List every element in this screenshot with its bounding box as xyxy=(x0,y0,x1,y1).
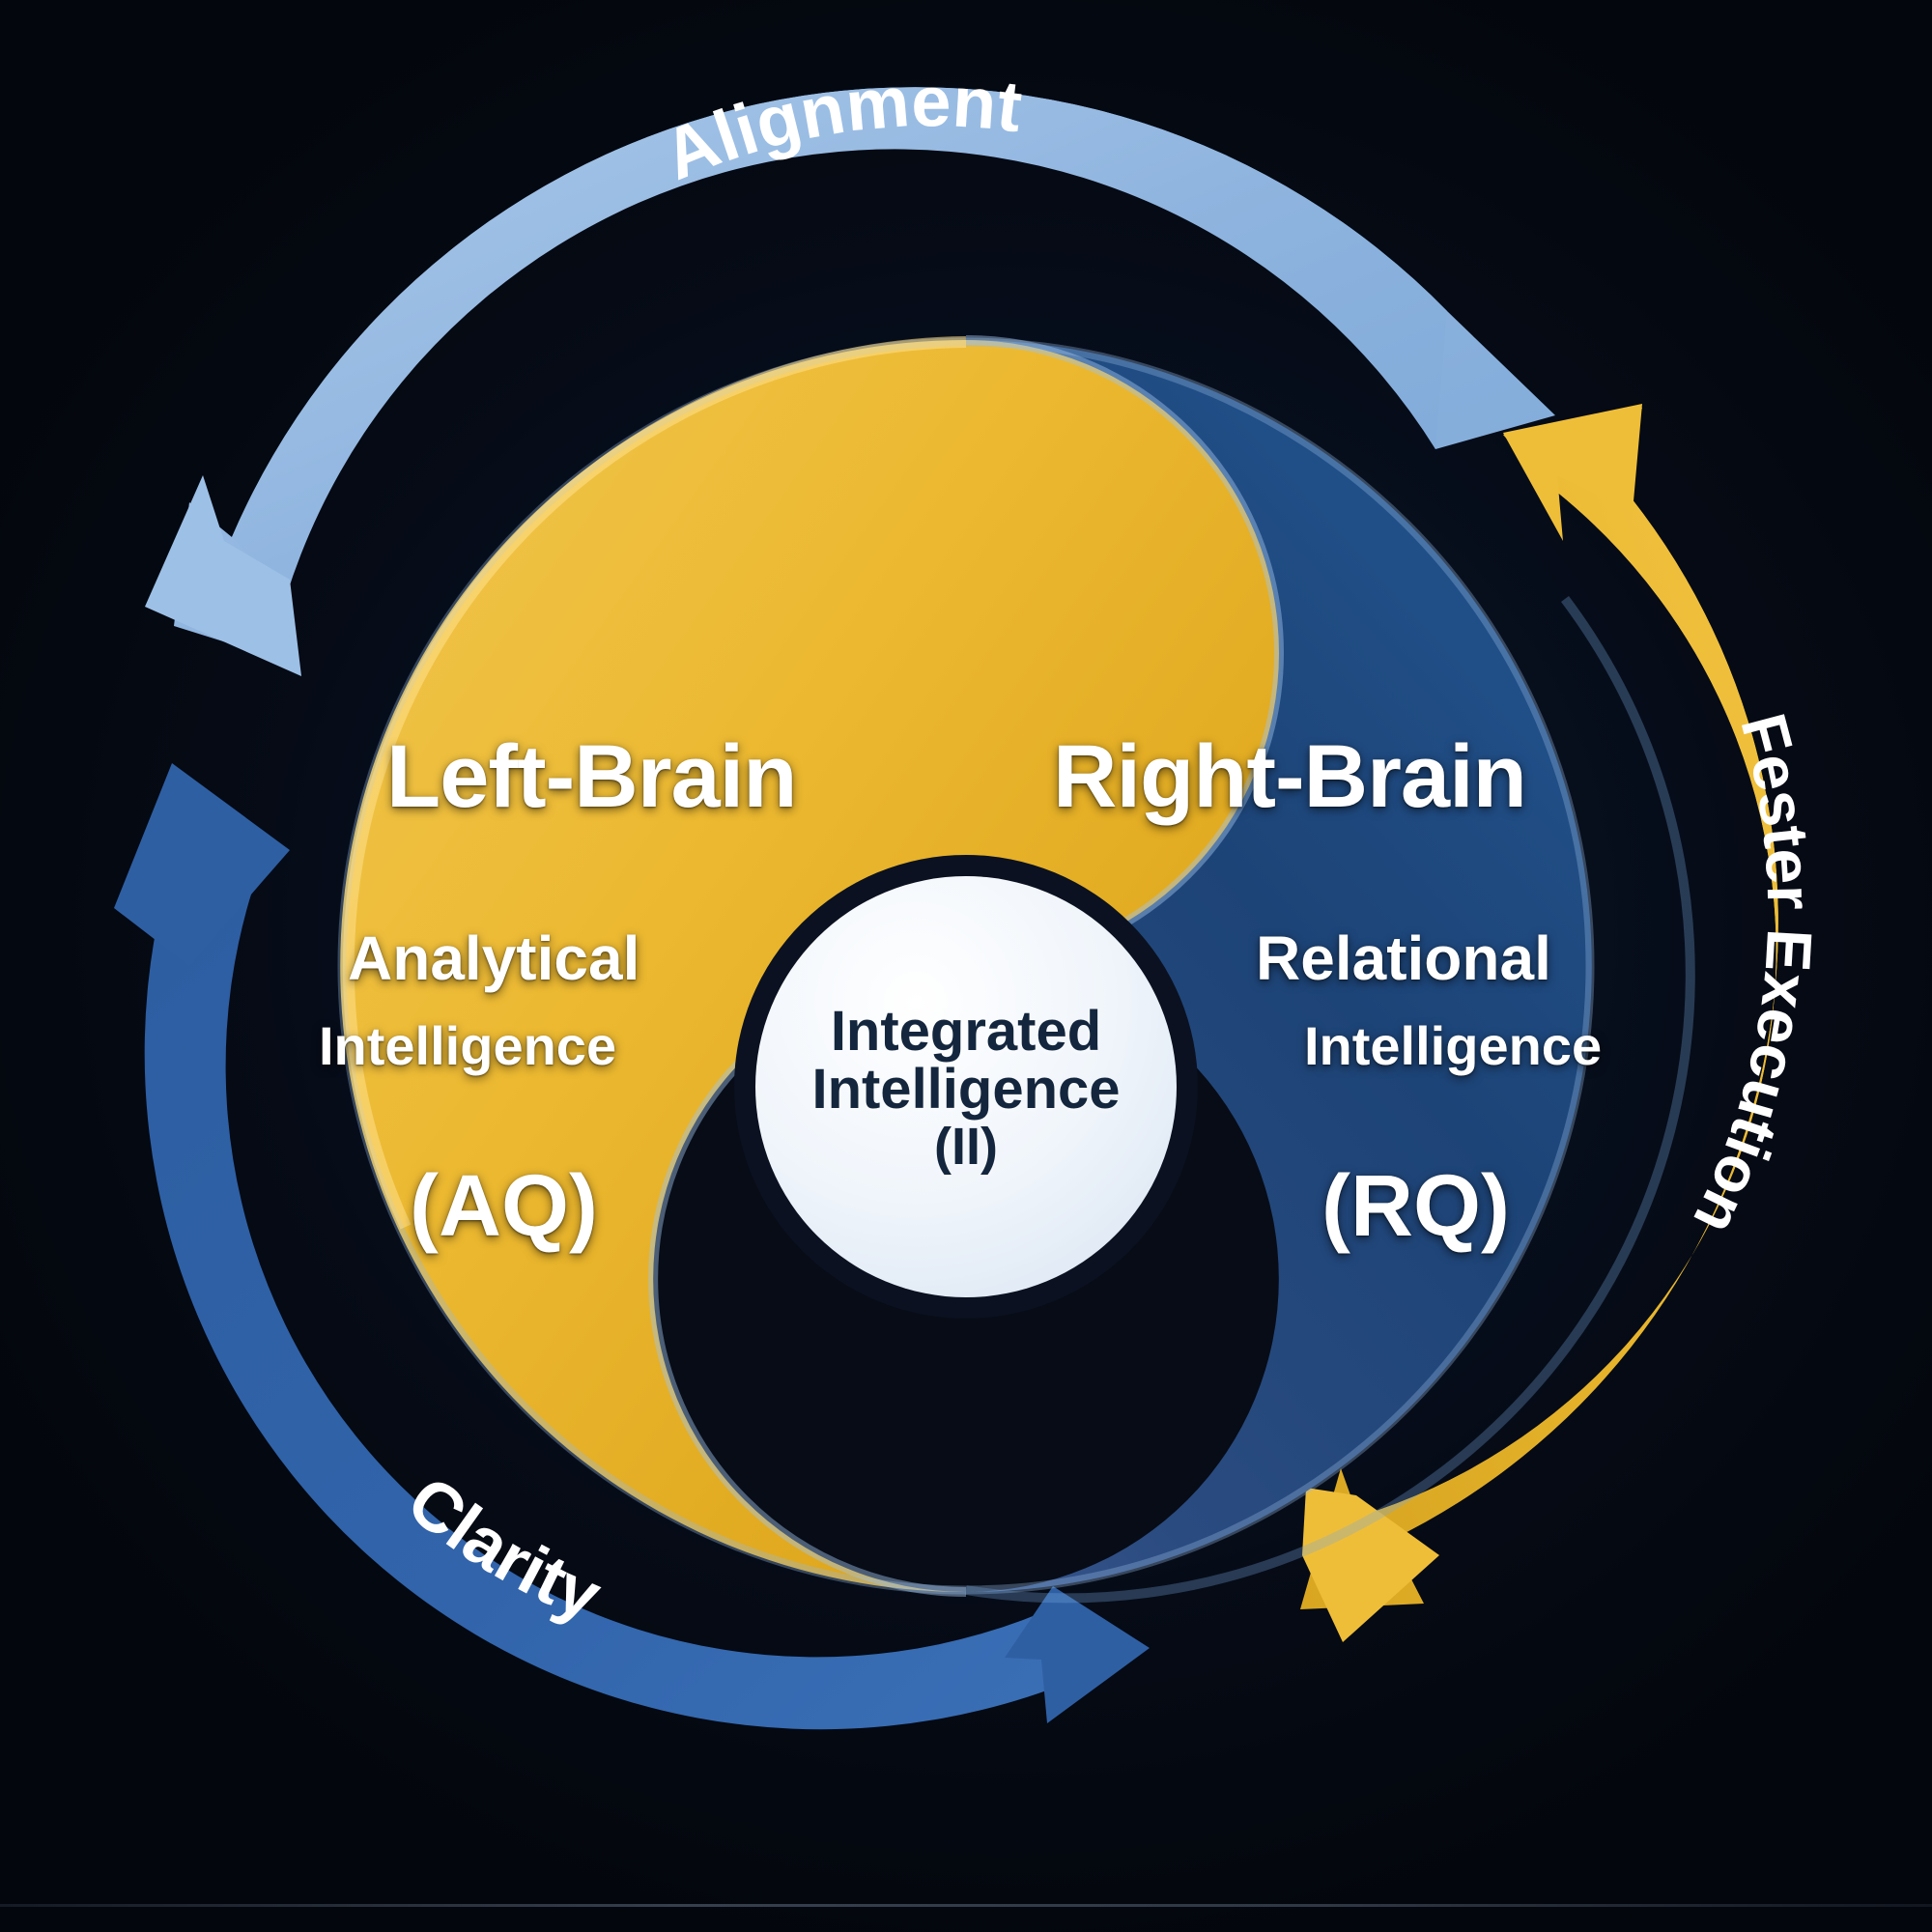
core-label-group: Integrated Intelligence (II) xyxy=(715,1003,1217,1174)
alignment-arc-label: Alignment xyxy=(652,61,1026,195)
left-brain-code: (AQ) xyxy=(410,1157,598,1257)
left-brain-subtitle-2: Intelligence xyxy=(319,1014,616,1077)
faster-execution-arc-label: Fester Execution xyxy=(1680,706,1826,1246)
right-brain-code: (RQ) xyxy=(1321,1157,1510,1257)
right-brain-subtitle-2: Intelligence xyxy=(1304,1014,1602,1077)
core-line-1: Integrated xyxy=(715,1003,1217,1061)
left-brain-title: Left-Brain xyxy=(386,726,796,828)
left-brain-subtitle: Analytical xyxy=(348,923,639,994)
right-brain-title: Right-Brain xyxy=(1053,726,1526,828)
core-line-2: Intelligence xyxy=(715,1061,1217,1119)
arc-text-layer: Alignment Fester Execution Clarity xyxy=(0,0,1932,1932)
core-line-3: (II) xyxy=(715,1120,1217,1174)
clarity-arc-label: Clarity xyxy=(393,1462,611,1635)
right-brain-subtitle: Relational xyxy=(1256,923,1551,994)
diagram-canvas: Alignment Fester Execution Clarity Left-… xyxy=(0,0,1932,1932)
